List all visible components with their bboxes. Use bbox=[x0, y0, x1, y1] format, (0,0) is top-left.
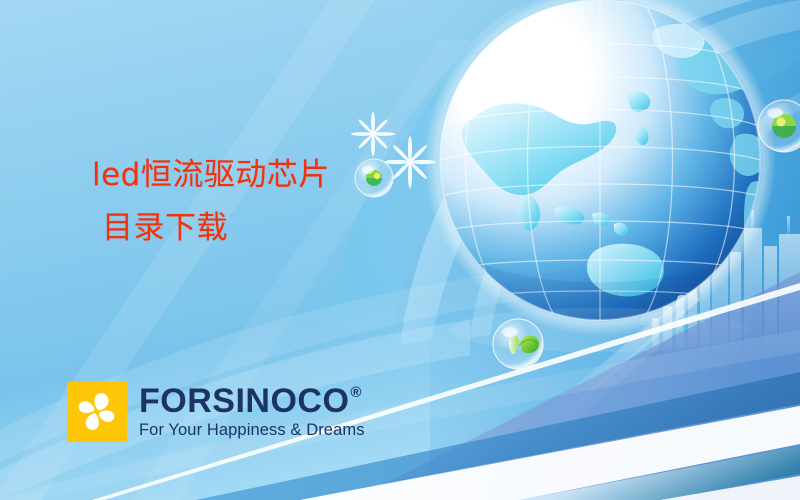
logo-text-block: FORSINOCO ® For Your Happiness & Dreams bbox=[139, 382, 365, 439]
company-logo: FORSINOCO ® For Your Happiness & Dreams bbox=[67, 382, 365, 442]
logo-tagline: For Your Happiness & Dreams bbox=[139, 422, 365, 439]
registered-trademark-icon: ® bbox=[350, 385, 362, 400]
promo-banner: led恒流驱动芯片 目录下载 FORSINOCO ® For Your Happ… bbox=[0, 0, 800, 500]
four-petal-pinwheel-icon bbox=[67, 382, 127, 442]
logo-wordmark: FORSINOCO ® bbox=[139, 384, 365, 418]
logo-wordmark-text: FORSINOCO bbox=[139, 384, 349, 418]
